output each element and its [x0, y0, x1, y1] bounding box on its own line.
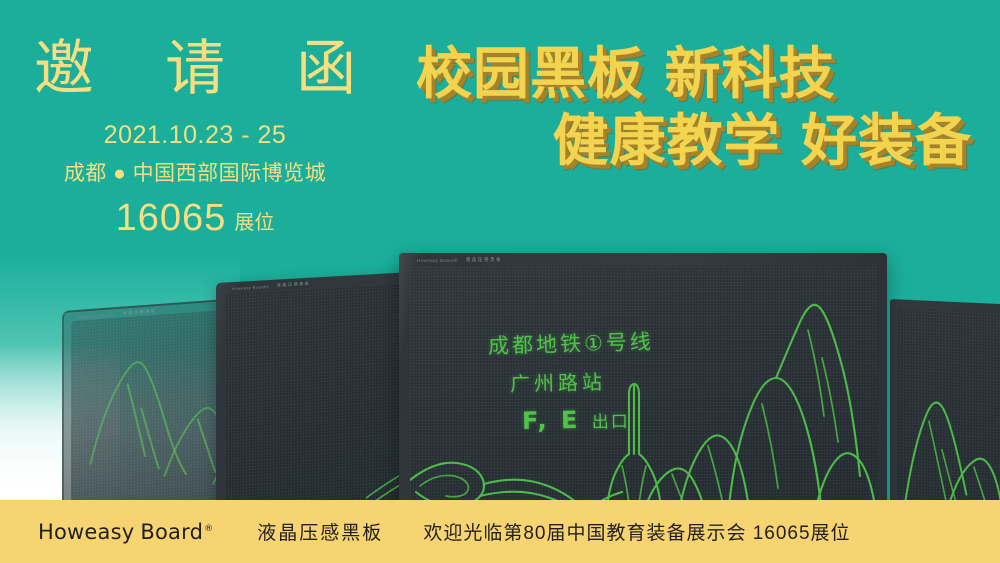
- blackboard-main-bezel-label: Howeasy Board® 液晶压感黑板: [417, 257, 502, 263]
- chalk-writing-exit-label: 出口: [592, 412, 630, 433]
- chalk-writing-line3: F, E 出口: [522, 405, 630, 435]
- bezel-brand-2: Howeasy Board®: [232, 284, 269, 291]
- logo-word-howeasy: Howeasy: [38, 520, 134, 544]
- welcome-message: 欢迎光临第80届中国教育装备展示会 16065展位: [423, 518, 850, 545]
- invitation-venue: 成都 ● 中国西部国际博览城: [0, 157, 390, 187]
- blackboard-main: 成都地铁①号线 广州路站 F, E 出口 Howeasy Board® 液晶压感…: [399, 253, 887, 517]
- registered-trademark-icon: ®: [204, 524, 213, 534]
- booth-unit: 展位: [234, 212, 274, 234]
- chalk-writing-line2: 广州路站: [510, 366, 607, 397]
- headline-line-2: 健康教学 好装备: [398, 111, 978, 174]
- headline-line-1: 校园黑板 新科技: [398, 44, 978, 107]
- blackboard-4-screen: [897, 308, 1000, 522]
- blackboard-main-screen: 成都地铁①号线 广州路站 F, E 出口: [410, 266, 877, 517]
- headline-block: 校园黑板 新科技 健康教学 好装备: [398, 44, 978, 173]
- bezel-brand-main: Howeasy Board®: [417, 258, 458, 263]
- bottom-bar-content: HoweasyBoard® 液晶压感黑板 欢迎光临第80届中国教育装备展示会 1…: [0, 518, 851, 545]
- chalk-writing-exit-letters: F, E: [522, 406, 581, 435]
- chalk-writing-line1: 成都地铁①号线: [488, 326, 655, 361]
- booth-number: 16065: [116, 197, 227, 239]
- invitation-booth: 16065展位: [0, 197, 390, 240]
- product-name: 液晶压感黑板: [257, 518, 383, 545]
- invitation-title: 邀 请 函: [0, 38, 390, 101]
- bezel-model-2: 液晶压感黑板: [277, 281, 311, 289]
- promo-banner: Howeasy Board® 液晶压感黑板 Howeasy Board® 液晶压…: [0, 0, 1000, 563]
- blackboard-4-artwork: [897, 308, 1000, 522]
- blackboard-main-artwork: [410, 266, 877, 517]
- brand-logo: HoweasyBoard®: [38, 520, 213, 544]
- logo-word-board: Board: [140, 520, 203, 544]
- bezel-model-main: 液晶压感黑板: [466, 257, 503, 263]
- invitation-date: 2021.10.23 - 25: [0, 121, 390, 150]
- invitation-block: 邀 请 函 2021.10.23 - 25 成都 ● 中国西部国际博览城 160…: [0, 38, 390, 240]
- blackboard-4: [890, 299, 1000, 522]
- bottom-bar: HoweasyBoard® 液晶压感黑板 欢迎光临第80届中国教育装备展示会 1…: [0, 500, 1000, 563]
